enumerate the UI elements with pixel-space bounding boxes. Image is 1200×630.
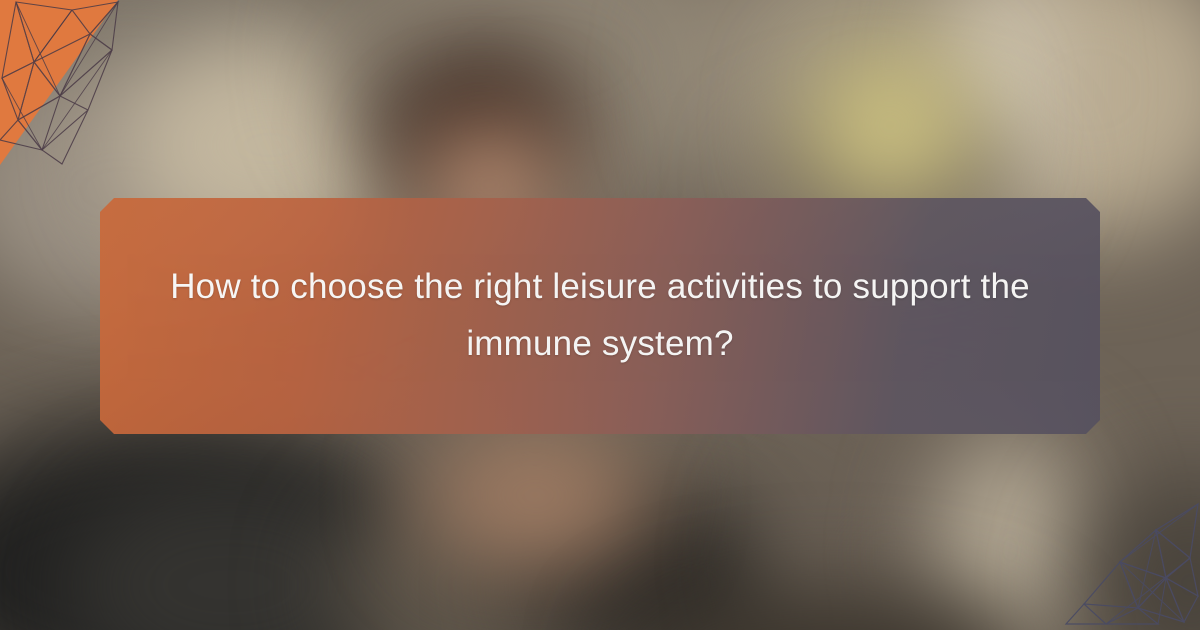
page-title: How to choose the right leisure activiti… [160, 259, 1040, 372]
bg-blob-arm [420, 420, 650, 570]
poster-canvas: How to choose the right leisure activiti… [0, 0, 1200, 630]
bg-blob-corner-right-dark [1080, 470, 1200, 630]
bg-blob-yellow-light [800, 40, 980, 210]
title-plate-inner: How to choose the right leisure activiti… [160, 259, 1040, 372]
title-plate: How to choose the right leisure activiti… [100, 198, 1100, 434]
